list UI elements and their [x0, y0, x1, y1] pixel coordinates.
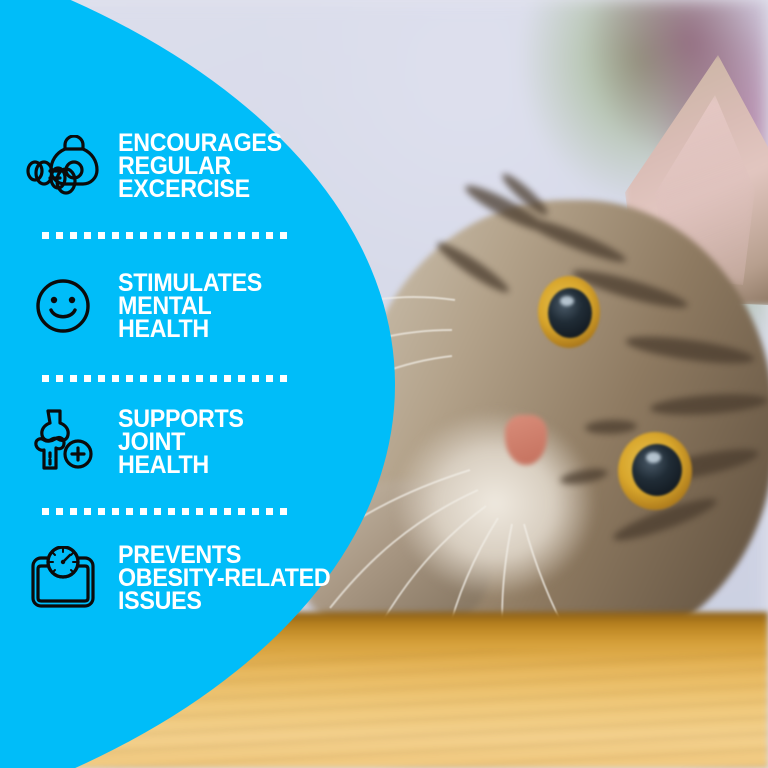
divider-3: [42, 508, 292, 515]
dumbbell-kettlebell-icon: [22, 128, 104, 204]
feature-item-joint-health[interactable]: SUPPORTS JOINT HEALTH: [22, 404, 352, 480]
feature-item-mental-health[interactable]: STIMULATES MENTAL HEALTH: [22, 268, 352, 344]
knee-joint-plus-icon: [22, 404, 104, 480]
bathroom-scale-icon: [22, 540, 104, 616]
infographic-poster: ENCOURAGES REGULAR EXCERCISE STIMULATES …: [0, 0, 768, 768]
feature-label: PREVENTS OBESITY-RELATED ISSUES: [118, 540, 330, 613]
feature-item-obesity[interactable]: PREVENTS OBESITY-RELATED ISSUES: [22, 540, 352, 616]
cat-eye-glint-upper: [560, 296, 574, 306]
feature-list: ENCOURAGES REGULAR EXCERCISE STIMULATES …: [0, 0, 400, 768]
divider-2: [42, 375, 292, 382]
cat-tabby-stripes: [400, 170, 768, 600]
feature-item-exercise[interactable]: ENCOURAGES REGULAR EXCERCISE: [22, 128, 352, 204]
feature-label: SUPPORTS JOINT HEALTH: [118, 404, 244, 477]
cat-eye-glint-lower: [646, 452, 661, 463]
feature-label: ENCOURAGES REGULAR EXCERCISE: [118, 128, 282, 201]
divider-1: [42, 232, 292, 239]
smiley-face-icon: [22, 268, 104, 344]
feature-label: STIMULATES MENTAL HEALTH: [118, 268, 262, 341]
